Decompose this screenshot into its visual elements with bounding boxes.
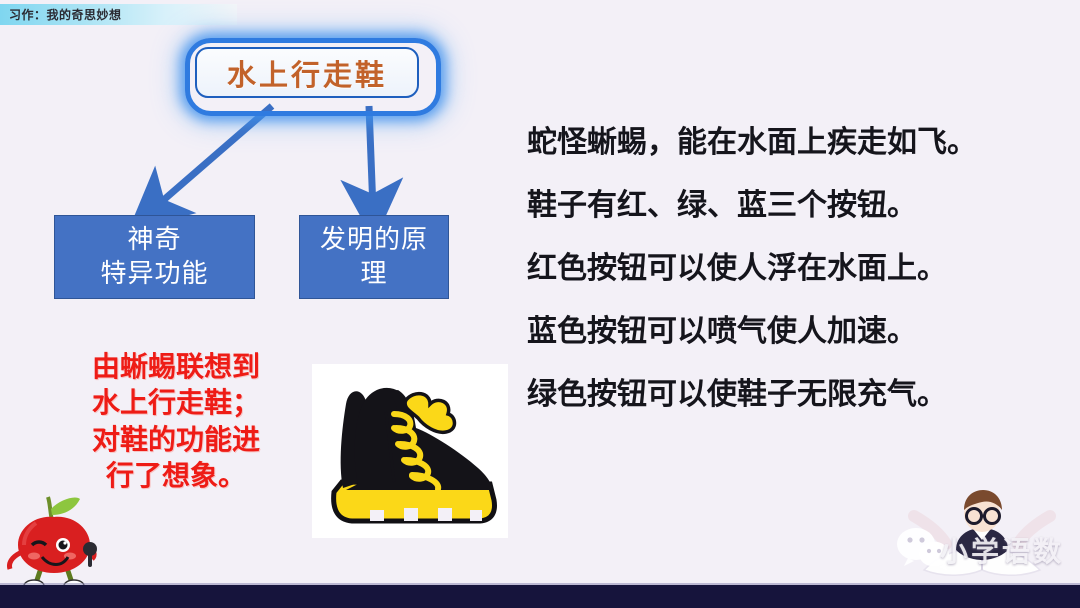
bottom-bar — [0, 585, 1080, 608]
body-line-1: 蛇怪蜥蜴，能在水面上疾走如飞。 — [527, 128, 1072, 158]
red-caption-line-3: 对鞋的功能进 — [56, 422, 296, 458]
node-invention-principle: 发明的原 理 — [299, 215, 449, 299]
body-line-5: 绿色按钮可以使鞋子无限充气。 — [527, 380, 1072, 410]
node-invention-principle-line-1: 发明的原 — [320, 223, 428, 257]
boot-icon — [312, 364, 508, 538]
node-magic-function-line-2: 特异功能 — [100, 257, 208, 291]
red-caption-line-1: 由蜥蜴联想到 — [56, 349, 296, 385]
apple-character — [6, 487, 102, 593]
node-magic-function-line-1: 神奇 — [100, 223, 208, 257]
node-magic-function: 神奇 特异功能 — [54, 215, 255, 299]
arrow-to-magic-function — [152, 106, 272, 210]
body-line-3: 红色按钮可以使人浮在水面上。 — [527, 254, 1072, 284]
body-line-2: 鞋子有红、绿、蓝三个按钮。 — [527, 191, 1072, 221]
node-invention-principle-line-2: 理 — [320, 257, 428, 291]
watermark-label: 小学语数 — [940, 530, 1064, 570]
arrow-to-invention-principle — [369, 106, 373, 210]
title-node: 水上行走鞋 — [195, 47, 419, 98]
red-caption-line-2: 水上行走鞋； — [56, 385, 296, 421]
slide-canvas: 习作：我的奇思妙想 水上行走鞋 神奇 特异功能 发明的原 理 由蜥蜴联想到 水上… — [0, 0, 1080, 608]
red-caption: 由蜥蜴联想到 水上行走鞋； 对鞋的功能进 行了想象。 — [56, 349, 296, 495]
header-banner: 习作：我的奇思妙想 — [0, 4, 237, 25]
header-title: 习作：我的奇思妙想 — [9, 6, 122, 23]
title-node-label: 水上行走鞋 — [227, 52, 387, 94]
boot-illustration — [312, 364, 508, 538]
body-line-4: 蓝色按钮可以喷气使人加速。 — [527, 317, 1072, 347]
body-text-block: 蛇怪蜥蜴，能在水面上疾走如飞。 鞋子有红、绿、蓝三个按钮。 红色按钮可以使人浮在… — [527, 128, 1072, 443]
